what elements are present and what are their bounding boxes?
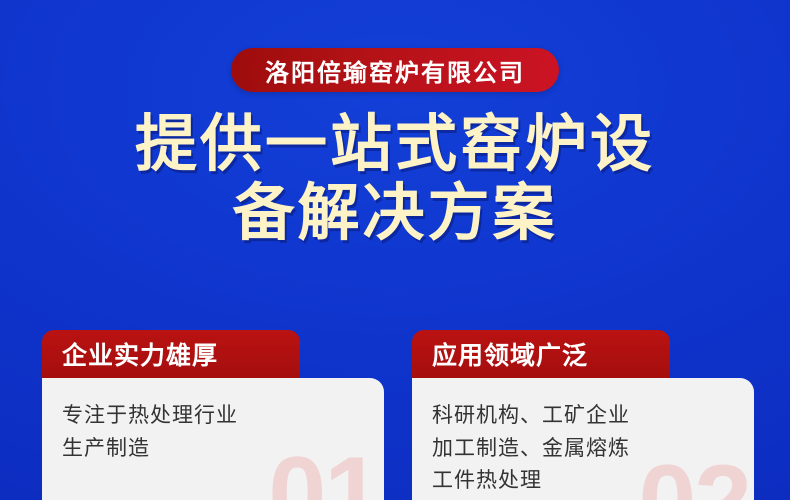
feature-card-description: 专注于热处理行业 生产制造: [62, 400, 366, 465]
feature-card-company-strength: 企业实力雄厚 专注于热处理行业 生产制造 01: [42, 330, 384, 500]
page-title-line-1: 提供一站式窑炉设: [0, 110, 790, 179]
page-title: 提供一站式窑炉设 备解决方案: [0, 110, 790, 249]
company-badge-container: 洛阳倍瑜窑炉有限公司: [0, 48, 790, 92]
feature-card-body: 专注于热处理行业 生产制造 01: [42, 378, 384, 500]
feature-card-body: 科研机构、工矿企业 加工制造、金属熔炼 工件热处理 02: [412, 378, 754, 500]
company-name-badge: 洛阳倍瑜窑炉有限公司: [231, 48, 559, 92]
feature-card-list: 企业实力雄厚 专注于热处理行业 生产制造 01 应用领域广泛 科研机构、工矿企业…: [42, 330, 754, 500]
feature-card-heading: 应用领域广泛: [412, 330, 670, 378]
feature-card-description: 科研机构、工矿企业 加工制造、金属熔炼 工件热处理: [432, 400, 736, 498]
page-title-line-2: 备解决方案: [0, 179, 790, 248]
promo-poster: 洛阳倍瑜窑炉有限公司 提供一站式窑炉设 备解决方案 企业实力雄厚 专注于热处理行…: [0, 0, 790, 500]
feature-card-application-fields: 应用领域广泛 科研机构、工矿企业 加工制造、金属熔炼 工件热处理 02: [412, 330, 754, 500]
feature-card-heading: 企业实力雄厚: [42, 330, 300, 378]
